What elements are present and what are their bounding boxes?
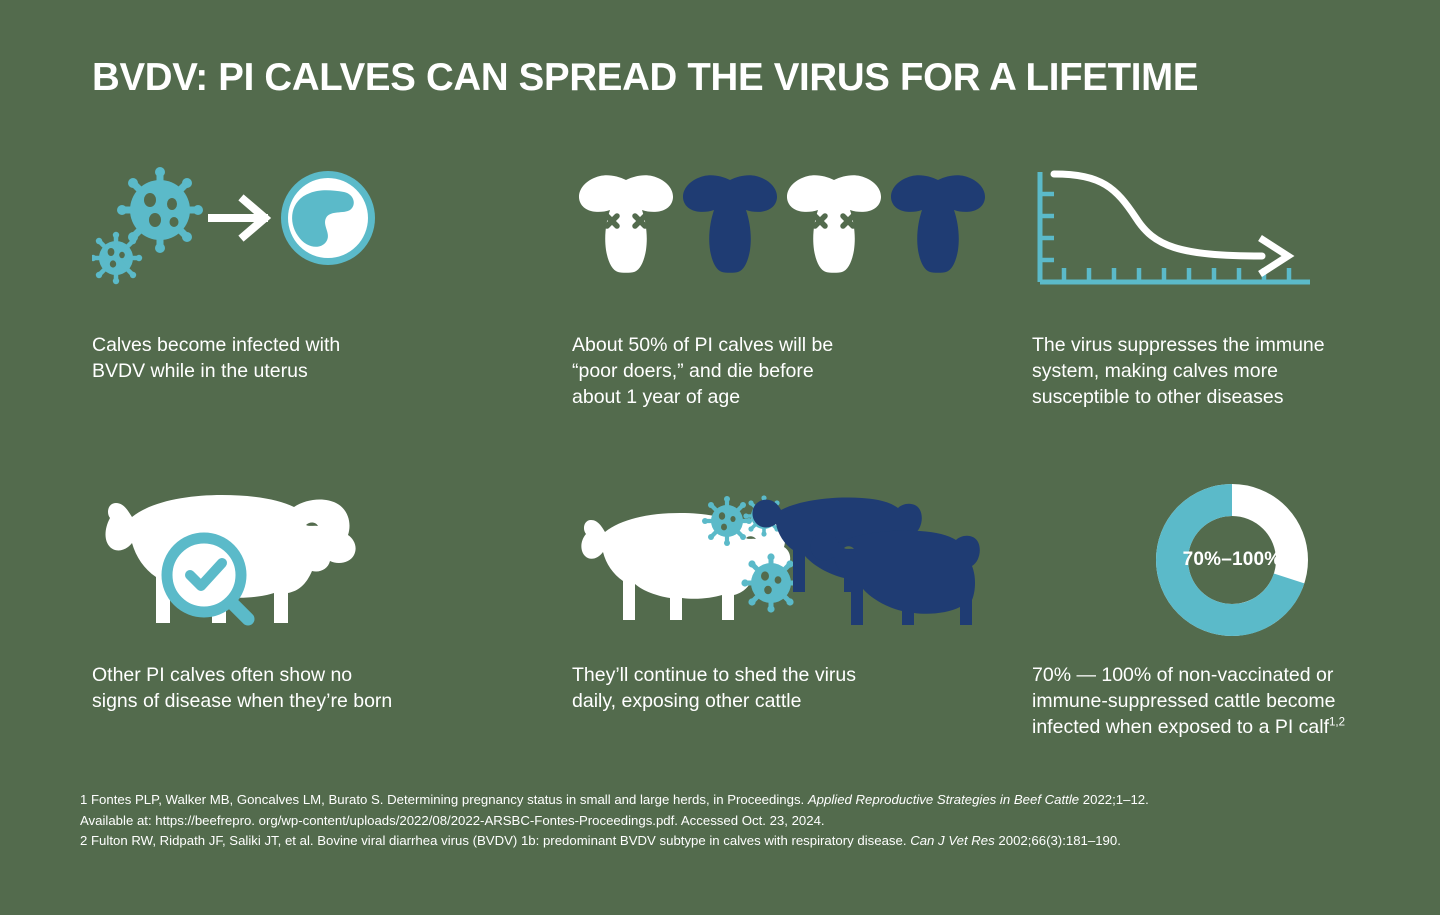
cow-white-shedding	[581, 513, 790, 620]
cow-head-navy-1	[683, 175, 777, 273]
cow-head-white-dead-1	[579, 175, 673, 273]
panel-row-top: Calves become infected with BVDV while i…	[0, 150, 1440, 480]
panel-caption: Calves become infected with BVDV while i…	[92, 332, 340, 384]
caption-line-3: infected when exposed to a PI calf	[1032, 716, 1329, 738]
four-cow-heads-icon	[572, 150, 1002, 310]
panel-exposure-infection-rate: 70%–100% 70% — 100% of non-vaccinated or…	[1032, 480, 1432, 640]
virus-particle-a	[702, 496, 752, 546]
footnote-line: Available at: https://beefrepro. org/wp-…	[80, 811, 1380, 832]
declining-curve-chart-icon	[1032, 150, 1432, 310]
cow-shedding-virus-icon	[572, 480, 1002, 640]
caption-superscript: 1,2	[1329, 717, 1345, 729]
infographic-page: { "title": "BVDV: PI CALVES CAN SPREAD T…	[0, 0, 1440, 915]
donut-center-label: 70%–100%	[1153, 481, 1311, 639]
panel-caption: Other PI calves often show no signs of d…	[92, 662, 392, 714]
panel-immune-suppression: The virus suppresses the immune system, …	[1032, 150, 1432, 310]
footnotes: 1 Fontes PLP, Walker MB, Goncalves LM, B…	[80, 790, 1380, 852]
cow-with-magnifier-icon	[92, 480, 522, 640]
virus-particle-c	[741, 553, 800, 612]
panel-poor-doers: About 50% of PI calves will be “poor doe…	[572, 150, 1002, 310]
donut-chart: 70%–100%	[1153, 481, 1311, 639]
uterus-circle-icon	[281, 171, 375, 265]
panel-caption: 70% — 100% of non-vaccinated or immune-s…	[1032, 662, 1345, 740]
cow-navy-front	[810, 530, 979, 625]
virus-particle-large	[117, 167, 203, 253]
cow-head-navy-2	[891, 175, 985, 273]
panel-no-signs-of-disease: Other PI calves often show no signs of d…	[92, 480, 522, 640]
page-title: BVDV: PI CALVES CAN SPREAD THE VIRUS FOR…	[92, 56, 1198, 100]
panel-grid: Calves become infected with BVDV while i…	[0, 150, 1440, 810]
donut-wrap: 70%–100%	[1032, 481, 1432, 639]
panel-infection-in-utero: Calves become infected with BVDV while i…	[92, 150, 522, 310]
magnifier-icon	[167, 538, 248, 619]
panel-caption: About 50% of PI calves will be “poor doe…	[572, 332, 833, 410]
virus-particle-small	[92, 232, 142, 284]
donut-chart-icon: 70%–100%	[1032, 480, 1432, 640]
panel-row-bottom: Other PI calves often show no signs of d…	[0, 480, 1440, 810]
virus-to-uterus-icon	[92, 150, 522, 310]
arrow-right-icon	[212, 200, 265, 236]
panel-caption: The virus suppresses the immune system, …	[1032, 332, 1325, 410]
footnote-line: 2 Fulton RW, Ridpath JF, Saliki JT, et a…	[80, 831, 1380, 852]
decline-curve	[1054, 174, 1262, 256]
cow-head-white-dead-2	[787, 175, 881, 273]
footnote-line: 1 Fontes PLP, Walker MB, Goncalves LM, B…	[80, 790, 1380, 811]
panel-caption: They’ll continue to shed the virus daily…	[572, 662, 856, 714]
panel-daily-shedding: They’ll continue to shed the virus daily…	[572, 480, 1002, 640]
